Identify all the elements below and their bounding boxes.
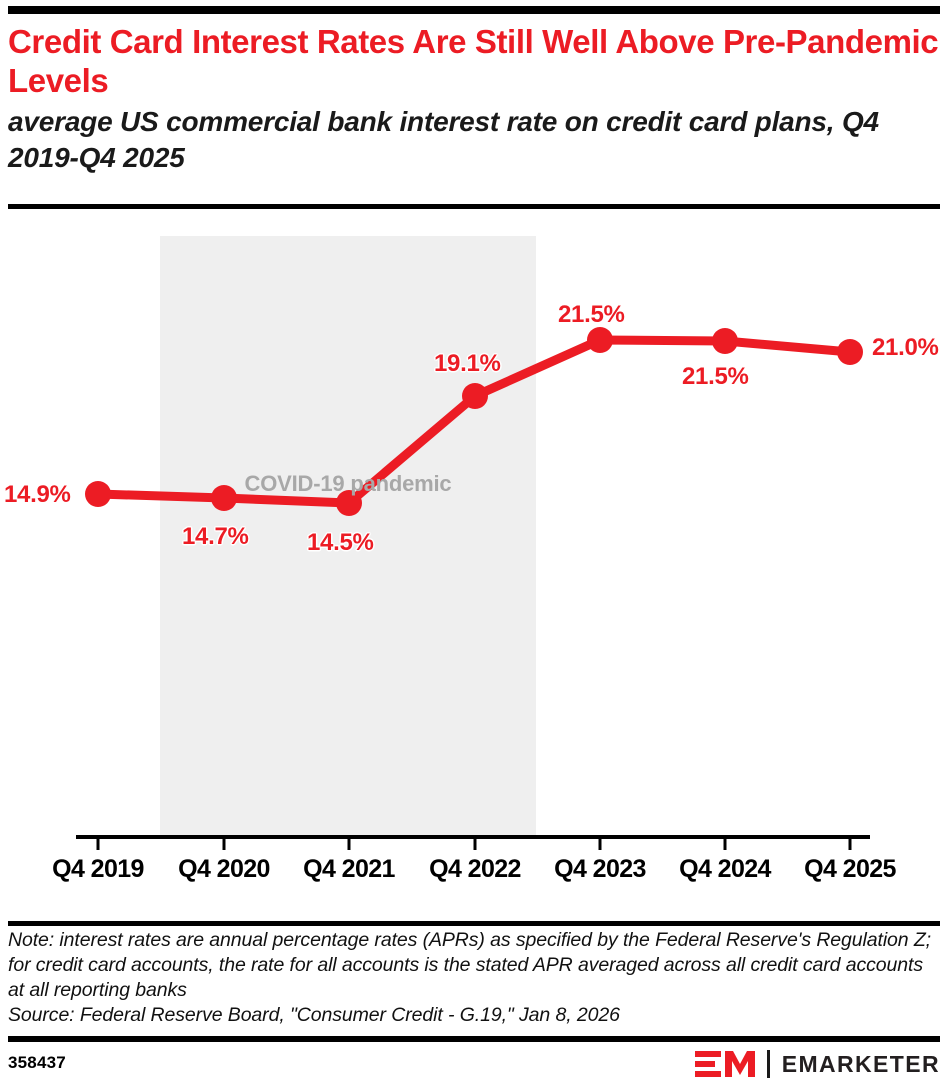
data-point-marker [712,328,738,354]
footer-bottom-rule [8,1036,940,1042]
footer-bar: 358437 EMARKETER [8,1048,940,1080]
page-title: Credit Card Interest Rates Are Still Wel… [8,22,940,100]
data-label-q4-2023: 21.5% [558,301,625,329]
data-label-q4-2025: 21.0% [872,334,939,362]
data-point-marker [462,383,488,409]
x-tick-label-q4-2021: Q4 2021 [303,855,395,884]
covid-band-label: COVID-19 pandemic [160,471,536,497]
data-label-q4-2020: 14.7% [182,523,249,551]
x-tick-label-q4-2019: Q4 2019 [52,855,144,884]
chart-id: 358437 [8,1053,66,1073]
emarketer-em-logo-icon [695,1049,757,1079]
x-tick-label-q4-2023: Q4 2023 [554,855,646,884]
footnotes: Note: interest rates are annual percenta… [8,928,940,1028]
x-tick-label-q4-2024: Q4 2024 [679,855,771,884]
x-tick-label-q4-2020: Q4 2020 [178,855,270,884]
data-point-marker [587,327,613,353]
top-divider-rule [8,6,940,14]
x-tick-label-q4-2025: Q4 2025 [804,855,896,884]
chart-card: Credit Card Interest Rates Are Still Wel… [0,0,948,1086]
chart-subtitle: average US commercial bank interest rate… [8,104,940,176]
plot-area: COVID-19 pandemic 14.9% 14.7% 14.5% 19.1… [0,209,948,909]
note-text: Note: interest rates are annual percenta… [8,928,940,1003]
data-label-q4-2024: 21.5% [682,363,749,391]
data-label-q4-2019: 14.9% [4,481,71,509]
line-chart-svg [0,209,948,909]
data-point-marker [837,339,863,365]
chart-header: Credit Card Interest Rates Are Still Wel… [8,22,940,176]
x-tick-label-q4-2022: Q4 2022 [429,855,521,884]
brand-divider [767,1050,770,1078]
brand-wordmark: EMARKETER [782,1051,940,1078]
x-axis-labels: Q4 2019 Q4 2020 Q4 2021 Q4 2022 Q4 2023 … [0,855,948,895]
footer-top-rule [8,921,940,926]
data-label-q4-2022: 19.1% [434,350,501,378]
source-text: Source: Federal Reserve Board, "Consumer… [8,1003,940,1028]
data-point-marker [85,481,111,507]
brand-lockup: EMARKETER [695,1048,940,1080]
data-label-q4-2021: 14.5% [307,529,374,557]
